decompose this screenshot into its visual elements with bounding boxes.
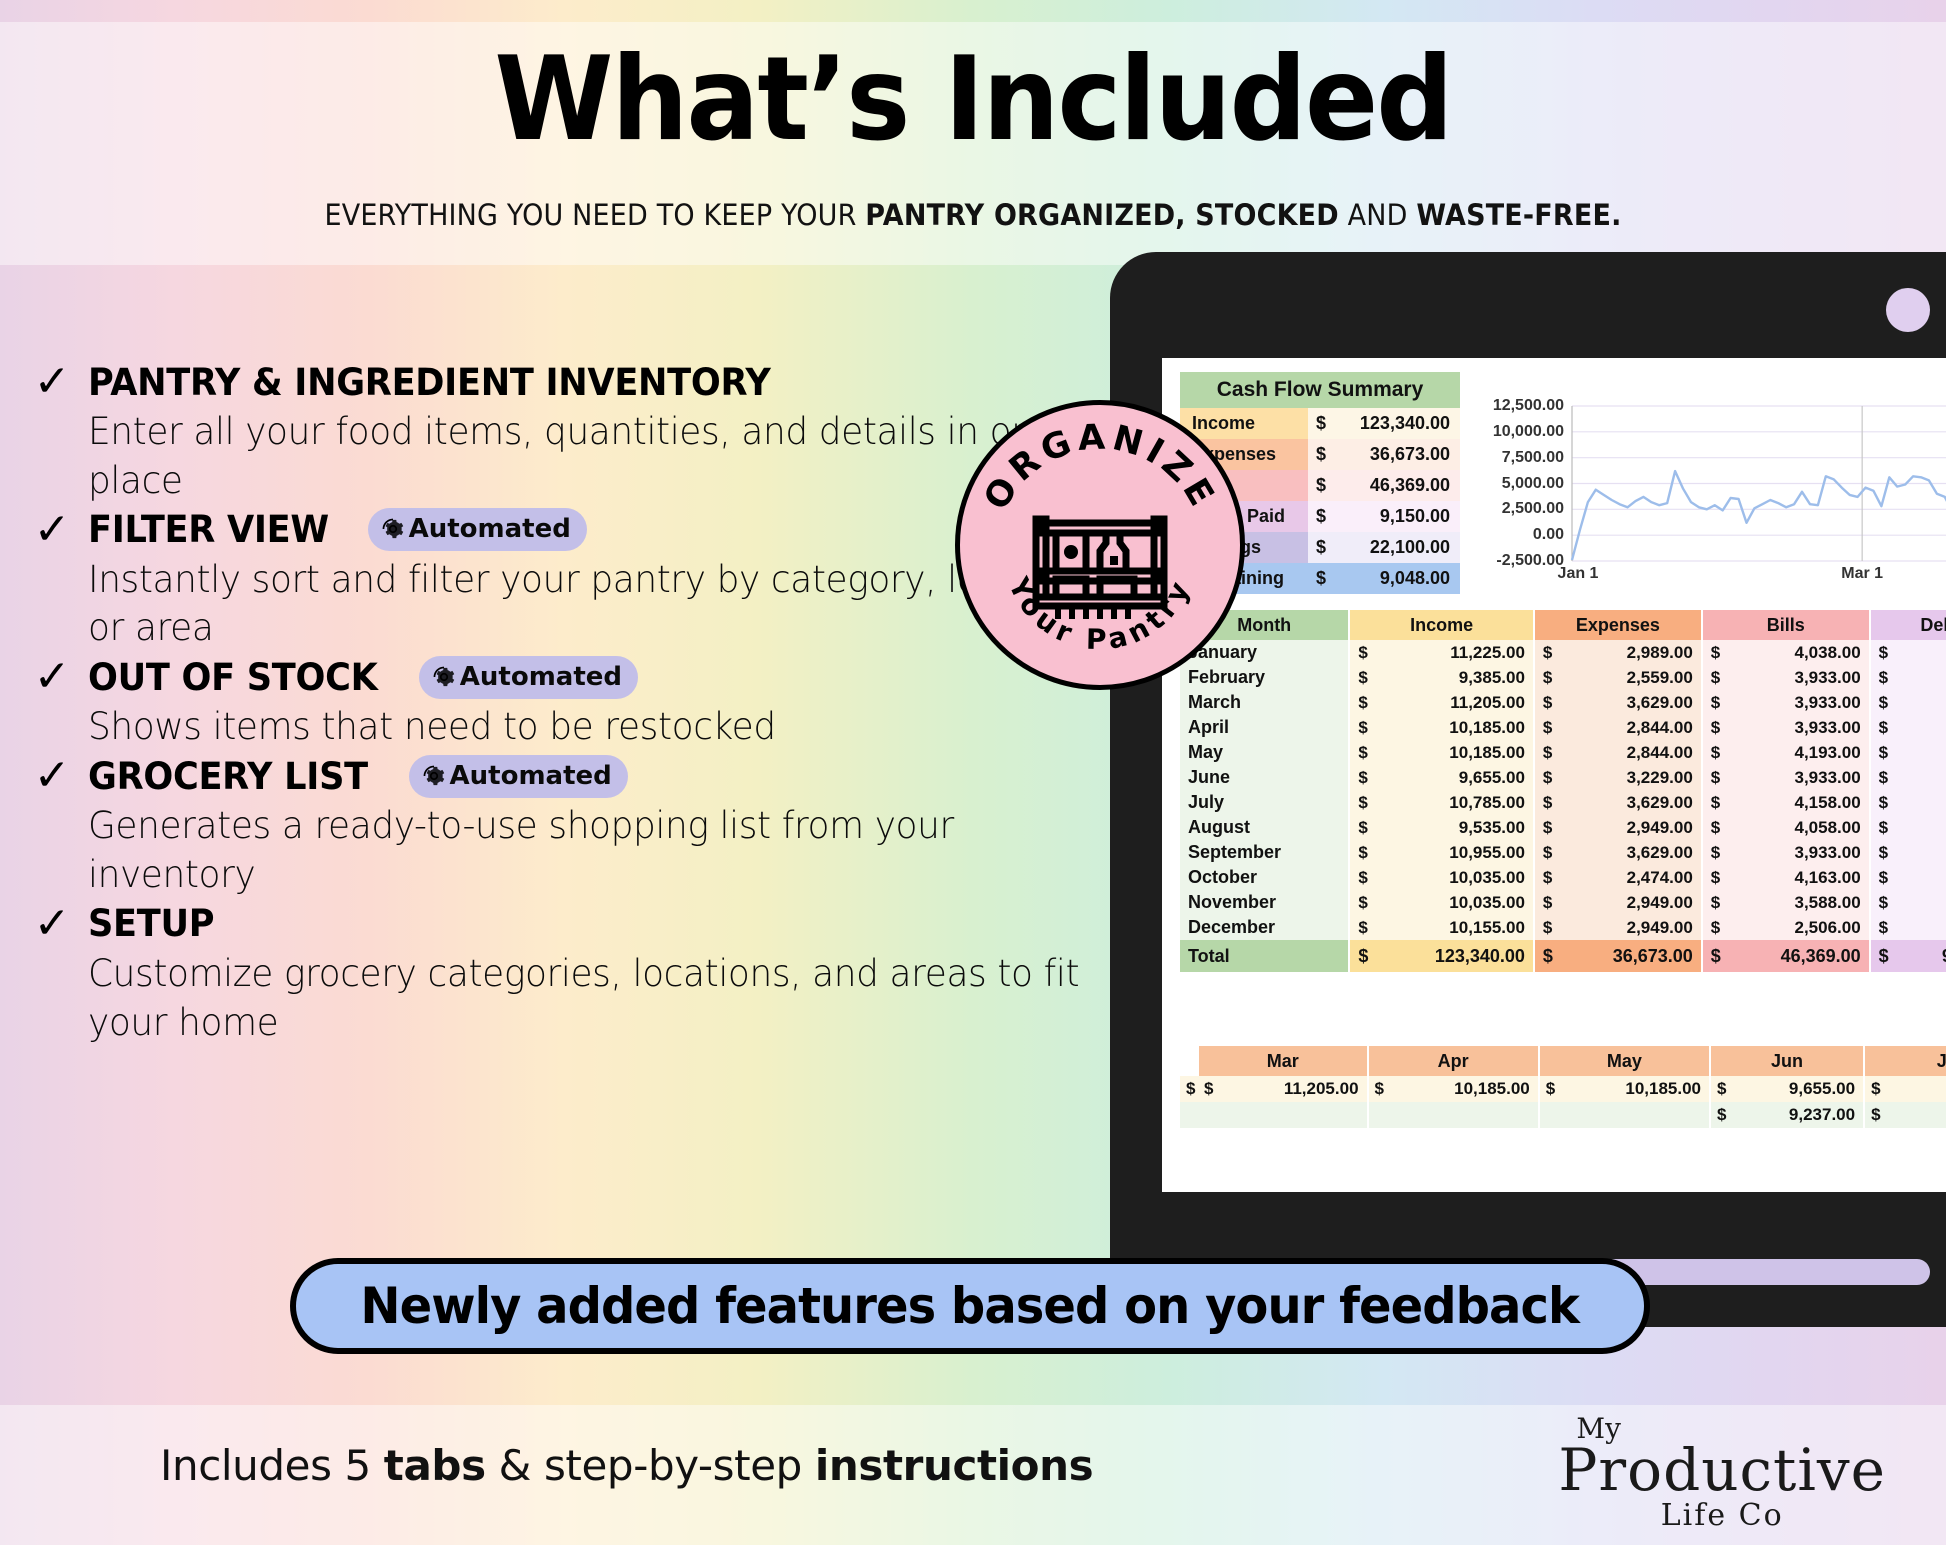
amount-cell: 775.00 [1890, 715, 1946, 740]
amount-cell: 775.00 [1890, 690, 1946, 715]
feature-description: Enter all your food items, quantities, a… [88, 408, 1108, 506]
currency-symbol: $ [1702, 940, 1722, 972]
currency-symbol: $ [1308, 501, 1334, 532]
pivot-amount: 9,655.00 [1728, 1076, 1864, 1102]
currency-symbol: $ [1710, 1076, 1728, 1102]
currency-symbol: $ [1702, 690, 1722, 715]
pivot-amount [1557, 1102, 1710, 1128]
month-cell: September [1180, 840, 1349, 865]
table-row: August$9,535.00$2,949.00$4,058.00$775.00 [1180, 815, 1946, 840]
amount-cell: 10,785.00 [1369, 790, 1534, 815]
amount-cell: 9,655.00 [1369, 765, 1534, 790]
amount-cell: 2,506.00 [1722, 915, 1870, 940]
amount-cell: 11,225.00 [1369, 640, 1534, 665]
currency-symbol: $ [1349, 790, 1369, 815]
pivot-amount [1216, 1102, 1368, 1128]
currency-symbol: $ [1870, 715, 1890, 740]
stamp-svg: ORGANIZE Your Pantry [960, 405, 1240, 685]
pivot-column-header: Jul [1864, 1046, 1946, 1076]
cash-flow-header-row: Cash Flow Summary [1180, 372, 1460, 408]
check-icon: ✓ [30, 655, 74, 699]
feature-description: Generates a ready-to-use shopping list f… [88, 802, 1108, 900]
amount-cell: 925.00 [1890, 790, 1946, 815]
feature-description: Shows items that need to be restocked [88, 703, 1108, 752]
currency-symbol: $ [1702, 840, 1722, 865]
y-axis-tick-label: -2,500.00 [1496, 552, 1564, 570]
currency-symbol: $ [1534, 840, 1554, 865]
automated-badge: Automated [409, 755, 628, 798]
pivot-amount: 10,185.00 [1386, 1076, 1539, 1102]
total-amount: 46,369.00 [1722, 940, 1870, 972]
pivot-column-header: May [1539, 1046, 1710, 1076]
check-icon: ✓ [30, 508, 74, 552]
amount-cell: 10,185.00 [1369, 740, 1534, 765]
currency-symbol: $ [1534, 715, 1554, 740]
currency-symbol: $ [1308, 408, 1334, 439]
total-amount: 9,150.00 [1890, 940, 1946, 972]
amount-cell: 2,844.00 [1554, 715, 1702, 740]
y-axis-tick-label: 10,000.00 [1493, 423, 1564, 441]
currency-symbol: $ [1870, 765, 1890, 790]
currency-symbol: $ [1870, 665, 1890, 690]
currency-symbol: $ [1702, 815, 1722, 840]
footer-note: Includes 5 tabs & step-by-step instructi… [160, 1441, 1093, 1490]
amount-cell: 10,035.00 [1369, 865, 1534, 890]
amount-cell: 4,193.00 [1722, 740, 1870, 765]
amount-cell: 3,933.00 [1722, 840, 1870, 865]
cash-flow-value: 22,100.00 [1334, 532, 1460, 563]
pivot-row: $9,237.00$10,512.00 [1180, 1102, 1946, 1128]
pivot-amount [1386, 1102, 1539, 1128]
amount-cell: 775.00 [1890, 765, 1946, 790]
feature-description: Customize grocery categories, locations,… [88, 950, 1108, 1048]
logo-line-3: Life Co [1558, 1501, 1886, 1531]
gear-icon [431, 664, 457, 690]
currency-symbol: $ [1702, 865, 1722, 890]
amount-cell: 3,229.00 [1554, 765, 1702, 790]
month-cell: December [1180, 915, 1349, 940]
amount-cell: 2,989.00 [1554, 640, 1702, 665]
pantry-shelf-icon [1036, 519, 1164, 619]
amount-cell: 10,955.00 [1369, 840, 1534, 865]
currency-symbol: $ [1349, 715, 1369, 740]
monthly-header-row: MonthIncomeExpensesBillsDebts [1180, 610, 1946, 640]
pivot-header-row: MarAprMayJunJul [1180, 1046, 1946, 1076]
chart-line [1572, 471, 1946, 560]
currency-symbol: $ [1870, 865, 1890, 890]
feature-item: ✓GROCERY LISTAutomatedGenerates a ready-… [30, 754, 1140, 900]
table-row: January$11,225.00$2,989.00$4,038.00$775.… [1180, 640, 1946, 665]
month-cell: March [1180, 690, 1349, 715]
currency-symbol: $ [1349, 890, 1369, 915]
table-row: November$10,035.00$2,949.00$3,588.00$775… [1180, 890, 1946, 915]
currency-symbol [1198, 1102, 1216, 1128]
amount-cell: 775.00 [1890, 890, 1946, 915]
y-axis-tick-label: 5,000.00 [1502, 475, 1564, 493]
camera-icon [1886, 288, 1930, 332]
currency-symbol: $ [1702, 915, 1722, 940]
feature-description: Instantly sort and filter your pantry by… [88, 556, 1108, 654]
amount-cell: 2,474.00 [1554, 865, 1702, 890]
table-row: July$10,785.00$3,629.00$4,158.00$925.00 [1180, 790, 1946, 815]
feature-item: ✓SETUPCustomize grocery categories, loca… [30, 902, 1140, 1048]
pivot-amount: 10,785.00 [1882, 1076, 1946, 1102]
currency-symbol: $ [1349, 940, 1369, 972]
month-cell: August [1180, 815, 1349, 840]
table-row: December$10,155.00$2,949.00$2,506.00$475… [1180, 915, 1946, 940]
currency-symbol: $ [1702, 890, 1722, 915]
stamp-top-text: ORGANIZE [977, 417, 1224, 517]
amount-cell: 775.00 [1890, 815, 1946, 840]
cash-flow-value: 36,673.00 [1334, 439, 1460, 470]
amount-cell: 3,933.00 [1722, 690, 1870, 715]
pivot-column-header: Apr [1368, 1046, 1539, 1076]
currency-symbol: $ [1349, 665, 1369, 690]
cash-flow-value: 46,369.00 [1334, 470, 1460, 501]
amount-cell: 11,205.00 [1369, 690, 1534, 715]
header: What’s Included EVERYTHING YOU NEED TO K… [0, 22, 1946, 265]
y-axis-tick-label: 0.00 [1533, 526, 1564, 544]
pivot-left-stub [1180, 1046, 1198, 1076]
amount-cell: 3,629.00 [1554, 690, 1702, 715]
monthly-pivot-table: MarAprMayJunJul $$11,205.00$10,185.00$10… [1180, 1046, 1946, 1128]
table-row: October$10,035.00$2,474.00$4,163.00$775.… [1180, 865, 1946, 890]
cta-pill[interactable]: Newly added features based on your feedb… [290, 1258, 1650, 1354]
automated-badge: Automated [368, 508, 587, 551]
y-axis-tick-label: 12,500.00 [1493, 397, 1564, 415]
x-axis-tick-label: Jan 1 [1558, 565, 1599, 583]
column-header: Bills [1702, 610, 1870, 640]
currency-symbol: $ [1702, 790, 1722, 815]
currency-symbol: $ [1870, 740, 1890, 765]
check-icon: ✓ [30, 360, 74, 404]
organize-your-pantry-stamp: ORGANIZE Your Pantry [955, 400, 1245, 690]
total-amount: 36,673.00 [1554, 940, 1702, 972]
currency-symbol: $ [1534, 865, 1554, 890]
amount-cell: 475.00 [1890, 915, 1946, 940]
automated-badge-label: Automated [409, 514, 571, 544]
currency-symbol: $ [1870, 915, 1890, 940]
cash-flow-value: 9,150.00 [1334, 501, 1460, 532]
month-cell: June [1180, 765, 1349, 790]
cash-flow-value: 9,048.00 [1334, 563, 1460, 594]
currency-symbol: $ [1534, 665, 1554, 690]
currency-symbol: $ [1534, 690, 1554, 715]
cash-flow-value: 123,340.00 [1334, 408, 1460, 439]
currency-symbol: $ [1702, 665, 1722, 690]
cash-flow-title: Cash Flow Summary [1180, 372, 1460, 408]
amount-cell: 2,949.00 [1554, 915, 1702, 940]
amount-cell: 4,058.00 [1722, 815, 1870, 840]
currency-symbol: $ [1198, 1076, 1216, 1102]
currency-symbol: $ [1702, 715, 1722, 740]
pivot-column-header: Jun [1710, 1046, 1864, 1076]
amount-cell: 3,588.00 [1722, 890, 1870, 915]
currency-symbol: $ [1539, 1076, 1557, 1102]
automated-badge: Automated [419, 656, 638, 699]
currency-symbol: $ [1349, 740, 1369, 765]
currency-symbol: $ [1534, 915, 1554, 940]
currency-symbol: $ [1349, 915, 1369, 940]
brand-logo: My Productive Life Co [1558, 1415, 1886, 1531]
currency-symbol: $ [1870, 690, 1890, 715]
column-header: Expenses [1534, 610, 1702, 640]
tablet-screen: Cash Flow SummaryIncome$123,340.00Expens… [1162, 358, 1946, 1192]
gear-icon [421, 763, 447, 789]
amount-cell: 2,949.00 [1554, 890, 1702, 915]
currency-symbol: $ [1870, 940, 1890, 972]
currency-symbol: $ [1864, 1076, 1882, 1102]
amount-cell: 10,185.00 [1369, 715, 1534, 740]
amount-cell: 10,155.00 [1369, 915, 1534, 940]
amount-cell: 9,385.00 [1369, 665, 1534, 690]
month-cell: November [1180, 890, 1349, 915]
currency-symbol: $ [1349, 640, 1369, 665]
currency-symbol [1180, 1102, 1198, 1128]
amount-cell: 4,163.00 [1722, 865, 1870, 890]
amount-cell: 775.00 [1890, 740, 1946, 765]
total-row: Total$123,340.00$36,673.00$46,369.00$9,1… [1180, 940, 1946, 972]
amount-cell: 3,933.00 [1722, 665, 1870, 690]
currency-symbol: $ [1308, 532, 1334, 563]
table-row: April$10,185.00$2,844.00$3,933.00$775.00 [1180, 715, 1946, 740]
monthly-breakdown-table: MonthIncomeExpensesBillsDebts January$11… [1180, 610, 1946, 972]
currency-symbol: $ [1349, 690, 1369, 715]
total-label: Total [1180, 940, 1349, 972]
amount-cell: 2,844.00 [1554, 740, 1702, 765]
feature-title: FILTER VIEW [88, 508, 329, 551]
pivot-amount: 11,205.00 [1216, 1076, 1368, 1102]
automated-badge-label: Automated [450, 761, 612, 791]
currency-symbol: $ [1702, 640, 1722, 665]
table-row: September$10,955.00$3,629.00$3,933.00$77… [1180, 840, 1946, 865]
feature-heading: ✓PANTRY & INGREDIENT INVENTORY [30, 360, 1140, 404]
feature-title: PANTRY & INGREDIENT INVENTORY [88, 361, 771, 404]
currency-symbol: $ [1349, 765, 1369, 790]
spreadsheet: Cash Flow SummaryIncome$123,340.00Expens… [1162, 358, 1946, 1192]
amount-cell: 2,949.00 [1554, 815, 1702, 840]
column-header: Debts [1870, 610, 1946, 640]
currency-symbol [1539, 1102, 1557, 1128]
amount-cell: 3,933.00 [1722, 715, 1870, 740]
currency-symbol: $ [1870, 790, 1890, 815]
pivot-amount: 9,237.00 [1728, 1102, 1864, 1128]
amount-cell: 3,629.00 [1554, 790, 1702, 815]
currency-symbol: $ [1349, 815, 1369, 840]
amount-cell: 775.00 [1890, 865, 1946, 890]
currency-symbol: $ [1534, 940, 1554, 972]
currency-symbol [1368, 1102, 1386, 1128]
footer: Includes 5 tabs & step-by-step instructi… [0, 1405, 1946, 1545]
currency-symbol: $ [1534, 640, 1554, 665]
amount-cell: 3,629.00 [1554, 840, 1702, 865]
currency-symbol: $ [1308, 563, 1334, 594]
currency-symbol: $ [1180, 1076, 1198, 1102]
currency-symbol: $ [1870, 815, 1890, 840]
column-header: Income [1349, 610, 1534, 640]
month-cell: April [1180, 715, 1349, 740]
table-row: March$11,205.00$3,629.00$3,933.00$775.00 [1180, 690, 1946, 715]
pivot-row: $$11,205.00$10,185.00$10,185.00$9,655.00… [1180, 1076, 1946, 1102]
currency-symbol: $ [1702, 740, 1722, 765]
poster-canvas: What’s Included EVERYTHING YOU NEED TO K… [0, 0, 1946, 1545]
currency-symbol: $ [1870, 890, 1890, 915]
pivot-amount: 10,185.00 [1557, 1076, 1710, 1102]
currency-symbol: $ [1870, 840, 1890, 865]
month-cell: May [1180, 740, 1349, 765]
currency-symbol: $ [1308, 470, 1334, 501]
currency-symbol: $ [1349, 865, 1369, 890]
feature-heading: ✓GROCERY LISTAutomated [30, 754, 1140, 798]
pivot-column-header: Mar [1198, 1046, 1368, 1076]
month-cell: October [1180, 865, 1349, 890]
amount-cell: 775.00 [1890, 665, 1946, 690]
cta-label: Newly added features based on your feedb… [361, 1277, 1580, 1335]
amount-cell: 3,933.00 [1722, 765, 1870, 790]
currency-symbol: $ [1534, 765, 1554, 790]
currency-symbol: $ [1702, 765, 1722, 790]
feature-title: GROCERY LIST [88, 755, 368, 798]
currency-symbol: $ [1534, 890, 1554, 915]
table-row: February$9,385.00$2,559.00$3,933.00$775.… [1180, 665, 1946, 690]
gear-icon [380, 516, 406, 542]
y-axis-tick-label: 7,500.00 [1502, 449, 1564, 467]
table-row: May$10,185.00$2,844.00$4,193.00$775.00 [1180, 740, 1946, 765]
amount-cell: 775.00 [1890, 840, 1946, 865]
amount-cell: 775.00 [1890, 640, 1946, 665]
amount-cell: 4,038.00 [1722, 640, 1870, 665]
automated-badge-label: Automated [460, 662, 622, 692]
amount-cell: 10,035.00 [1369, 890, 1534, 915]
page-subtitle: EVERYTHING YOU NEED TO KEEP YOUR PANTRY … [68, 198, 1878, 232]
currency-symbol: $ [1534, 790, 1554, 815]
amount-cell: 9,535.00 [1369, 815, 1534, 840]
check-icon: ✓ [30, 754, 74, 798]
month-cell: July [1180, 790, 1349, 815]
cash-flow-chart: 12,500.0010,000.007,500.005,000.002,500.… [1480, 376, 1946, 591]
currency-symbol: $ [1534, 815, 1554, 840]
table-row: June$9,655.00$3,229.00$3,933.00$775.00 [1180, 765, 1946, 790]
logo-line-2: Productive [1558, 1441, 1886, 1499]
total-amount: 123,340.00 [1369, 940, 1534, 972]
amount-cell: 2,559.00 [1554, 665, 1702, 690]
check-icon: ✓ [30, 902, 74, 946]
currency-symbol: $ [1308, 439, 1334, 470]
currency-symbol: $ [1349, 840, 1369, 865]
currency-symbol: $ [1710, 1102, 1728, 1128]
y-axis-tick-label: 2,500.00 [1502, 500, 1564, 518]
amount-cell: 4,158.00 [1722, 790, 1870, 815]
feature-title: SETUP [88, 902, 214, 945]
currency-symbol: $ [1368, 1076, 1386, 1102]
feature-title: OUT OF STOCK [88, 656, 378, 699]
x-axis-tick-label: Mar 1 [1841, 565, 1883, 583]
currency-symbol: $ [1870, 640, 1890, 665]
page-title: What’s Included [68, 22, 1878, 158]
currency-symbol: $ [1534, 740, 1554, 765]
feature-heading: ✓SETUP [30, 902, 1140, 946]
pivot-amount: 10,512.00 [1882, 1102, 1946, 1128]
currency-symbol: $ [1864, 1102, 1882, 1128]
